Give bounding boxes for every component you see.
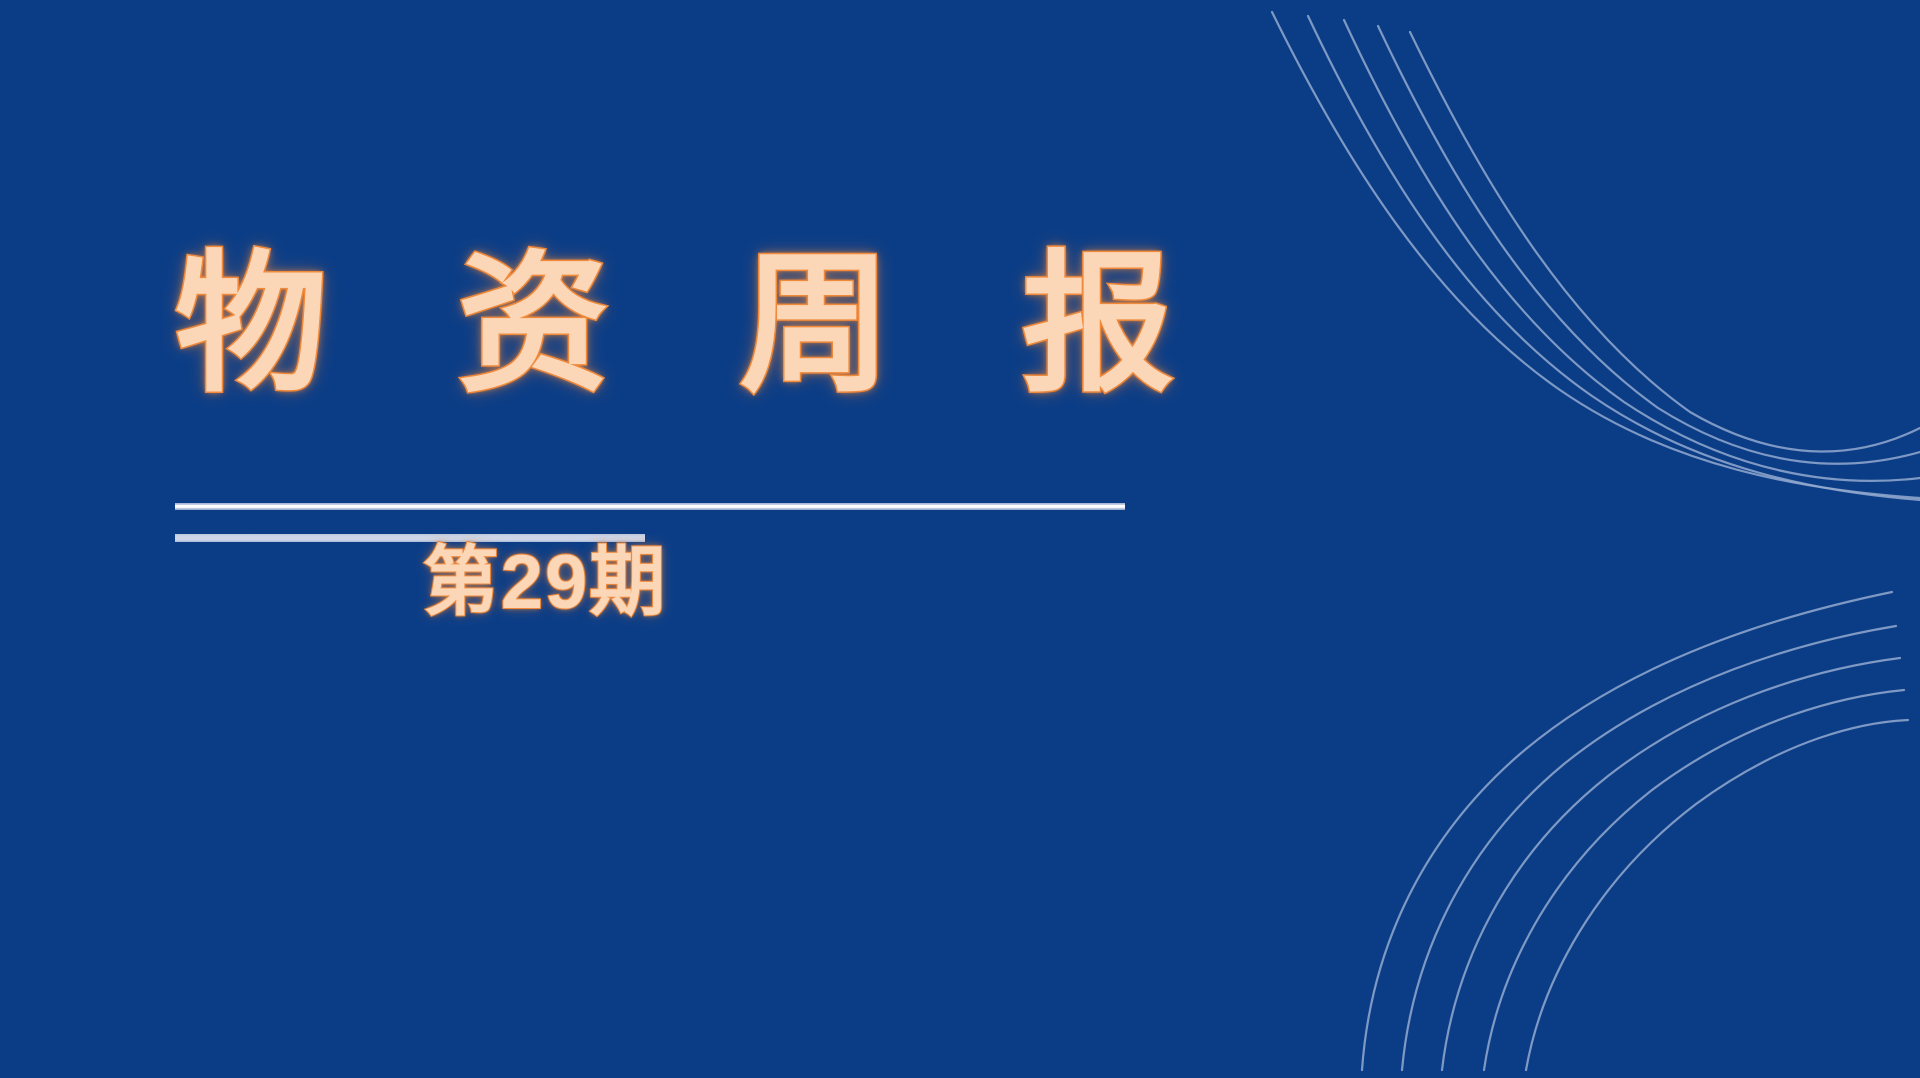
page-title: 物 资 周 报 — [175, 243, 1218, 407]
title-divider-long — [175, 503, 1125, 510]
slide-canvas: 物 资 周 报 第29期 — [0, 0, 1920, 1078]
title-block: 物 资 周 报 第29期 — [0, 0, 1920, 1078]
issue-number-subtitle: 第29期 — [175, 541, 915, 625]
